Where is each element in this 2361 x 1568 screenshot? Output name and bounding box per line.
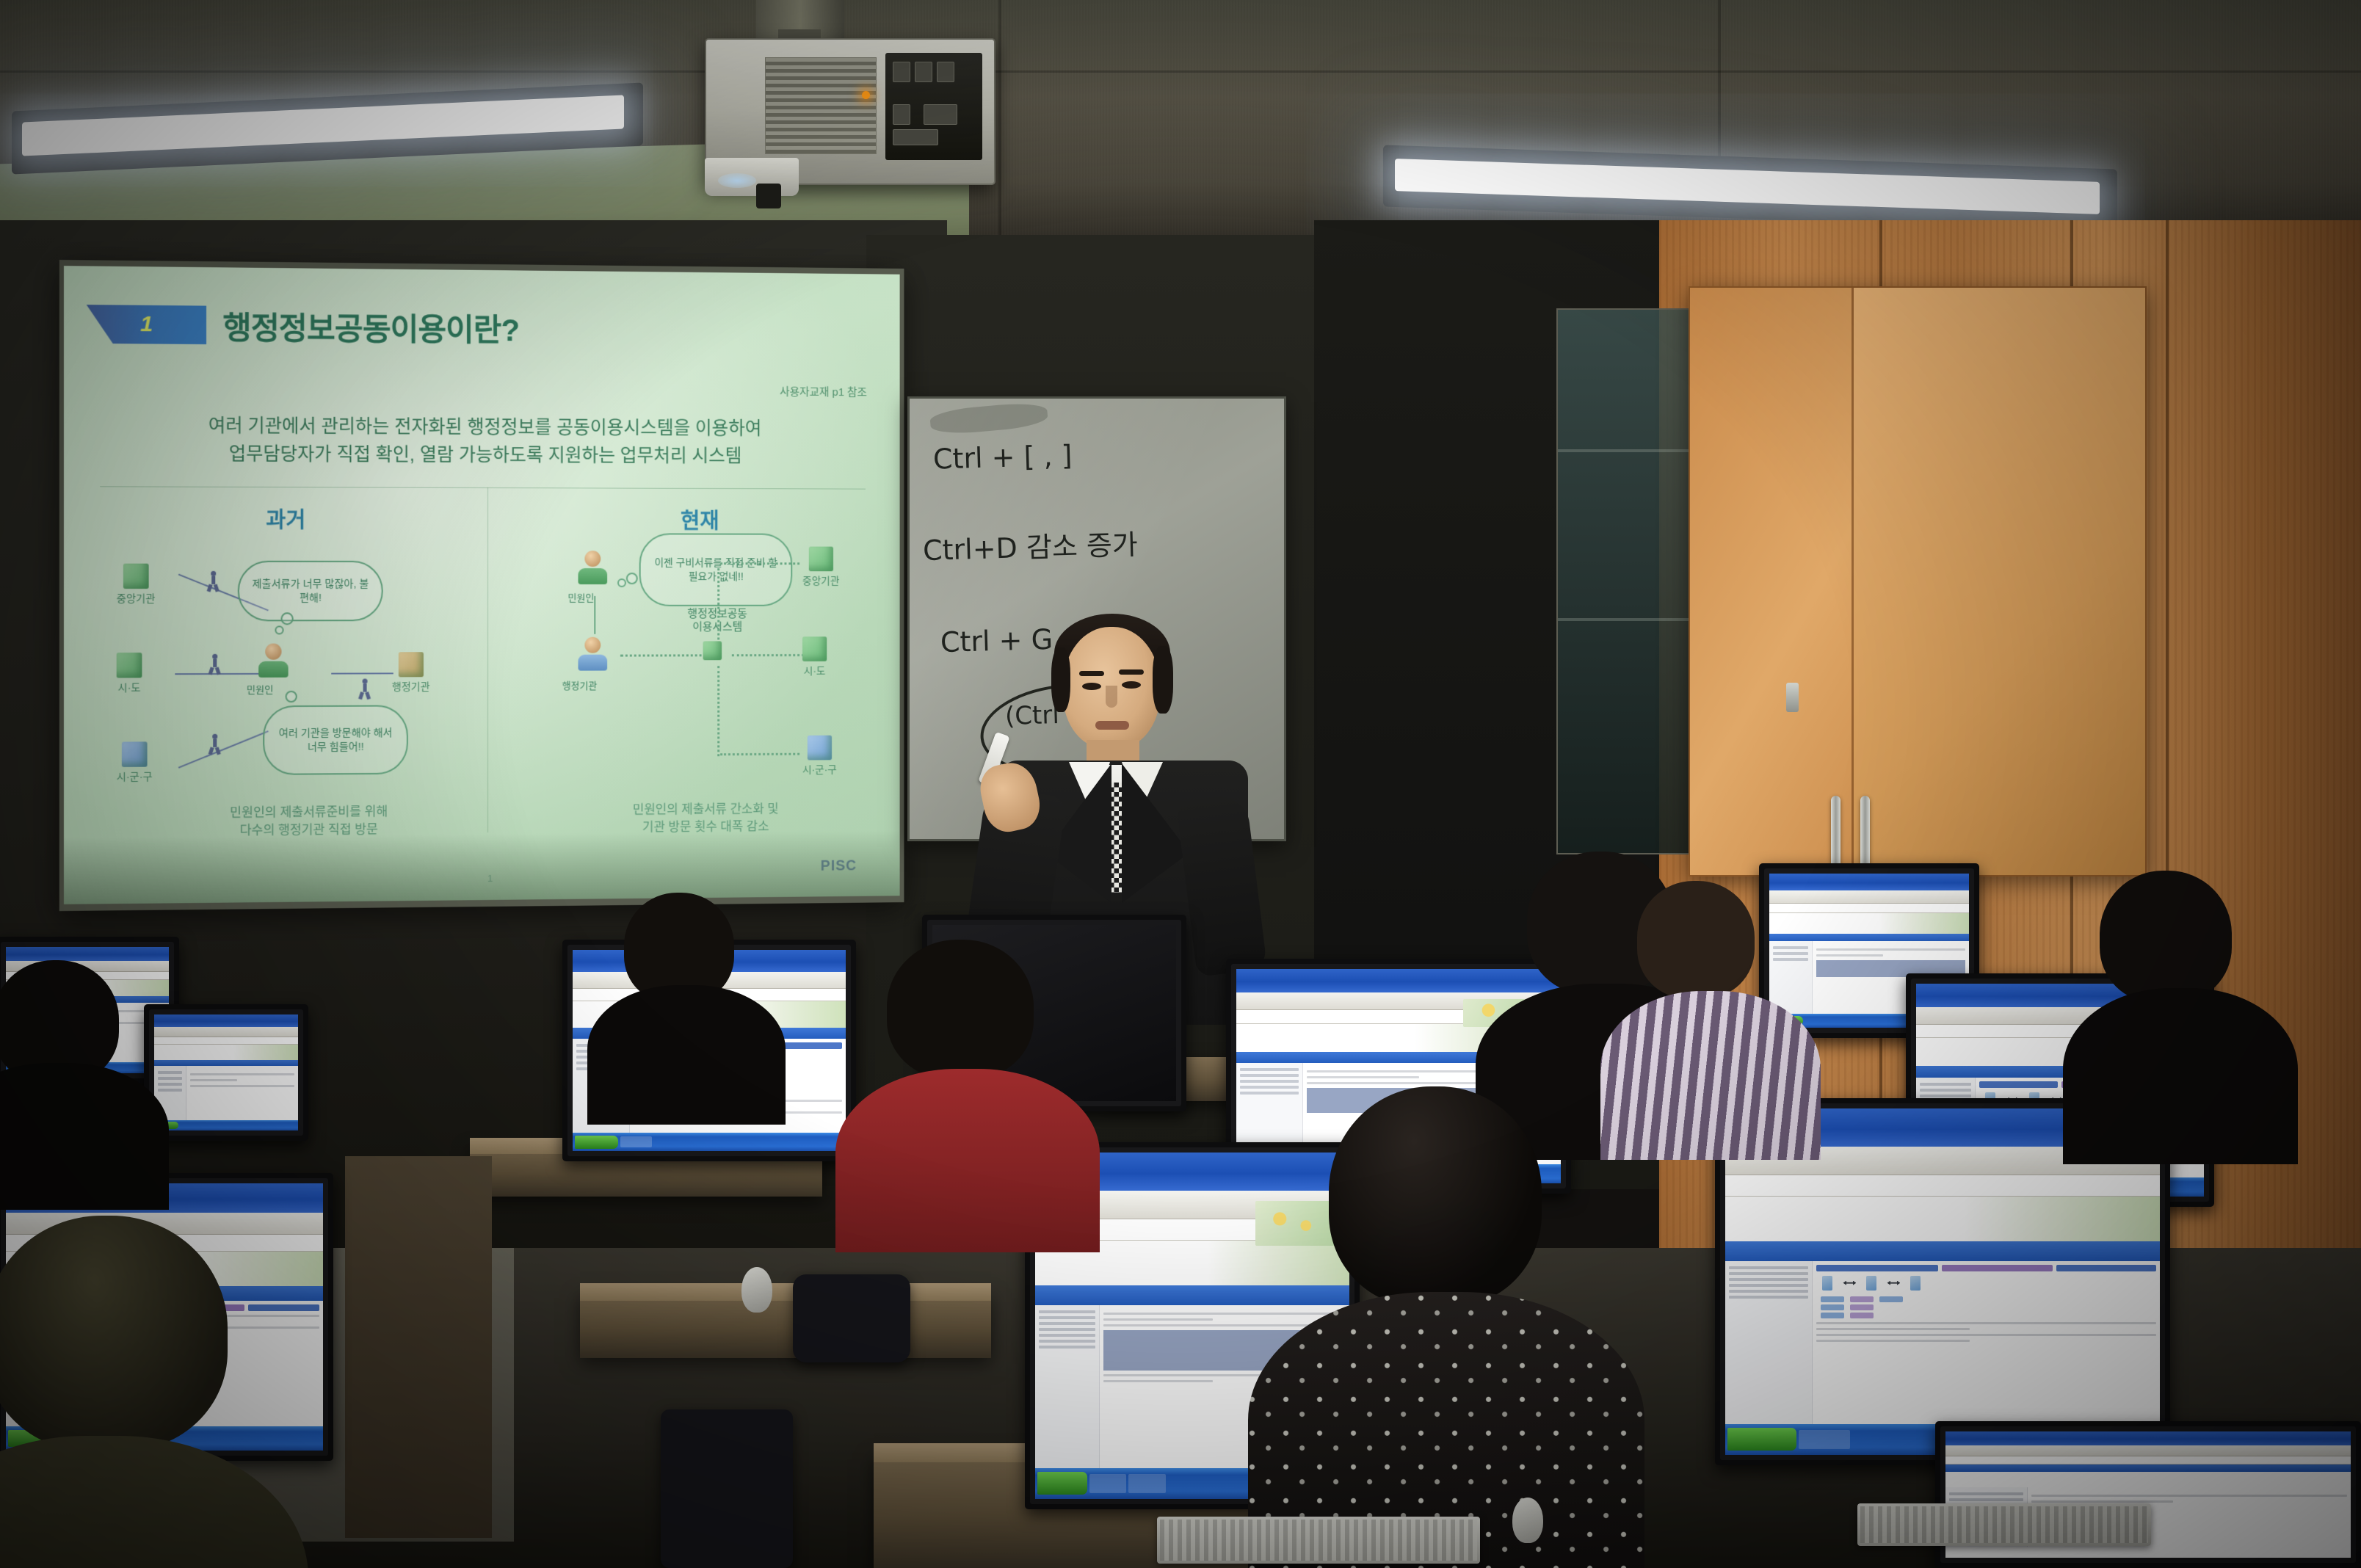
projector-port xyxy=(893,129,938,145)
student-head-olive-cap xyxy=(0,1216,228,1451)
citizen-avatar-past xyxy=(257,644,290,678)
browser-title-bar xyxy=(6,947,169,961)
browser-address-bar[interactable] xyxy=(1769,904,1969,914)
slide-section-number: 1 xyxy=(140,312,153,338)
diagram-arrow-dotted xyxy=(720,562,799,566)
walking-person-icon xyxy=(206,734,222,756)
taskbar-button[interactable] xyxy=(1089,1474,1127,1493)
section-chips xyxy=(1816,1265,2156,1271)
option-box[interactable] xyxy=(1821,1313,1844,1318)
slide-divider-vertical xyxy=(487,487,488,832)
chip xyxy=(2056,1265,2156,1271)
browser-toolbar[interactable] xyxy=(154,1027,298,1037)
arrow-icon xyxy=(1843,1281,1856,1285)
page-sidebar[interactable] xyxy=(1725,1261,1813,1424)
cabinet-lock[interactable] xyxy=(1786,683,1799,712)
slide-shadow xyxy=(64,830,900,904)
whiteboard-line-2: Ctrl+D 감소 증가 xyxy=(922,522,1138,568)
monitor-far-right-corner[interactable] xyxy=(1935,1421,2361,1568)
projector-port xyxy=(924,104,957,125)
presenter-eyebrow xyxy=(1119,669,1144,675)
projector-port xyxy=(937,62,954,82)
projection-screen: 1 행정정보공동이용이란? 사용자교재 p1 참조 여러 기관에서 관리하는 전… xyxy=(59,260,904,911)
page-main xyxy=(186,1066,298,1120)
chip xyxy=(1979,1081,2058,1088)
option-box[interactable] xyxy=(1850,1304,1874,1310)
diagram-arrow-dotted xyxy=(720,753,799,758)
option-box[interactable] xyxy=(1821,1296,1844,1302)
projector-vent xyxy=(765,57,877,154)
document-icon xyxy=(1910,1276,1921,1291)
browser-title-bar xyxy=(1769,874,1969,890)
storage-cabinet[interactable] xyxy=(1689,286,2147,876)
page-nav-bar[interactable] xyxy=(1945,1464,2351,1472)
walking-person-icon xyxy=(206,654,222,676)
diagram-node-central-present: 중앙기관 xyxy=(802,547,839,588)
projector-mount-foot xyxy=(756,184,781,208)
keyboard-keys[interactable] xyxy=(1860,1506,2148,1543)
presenter-eye xyxy=(1122,681,1141,689)
student-shoulders xyxy=(587,985,786,1125)
diagram-node-province-present: 시·도 xyxy=(802,636,827,678)
agency-label-present: 행정기관 xyxy=(562,678,597,692)
diagram-arrow xyxy=(331,672,393,674)
diagram-node-central-past: 중앙기관 xyxy=(117,564,156,606)
page-header-banner xyxy=(154,1045,298,1060)
avatar-head xyxy=(584,637,601,653)
chair-back-left[interactable] xyxy=(793,1274,910,1362)
diagram-node-province-past: 시·도 xyxy=(117,653,142,695)
document-icon xyxy=(1822,1276,1832,1291)
slide-body-line-2: 업무담당자가 직접 확인, 열람 가능하도록 지원하는 업무처리 시스템 xyxy=(64,440,900,471)
citizen-avatar-present xyxy=(576,551,609,584)
browser-title-bar xyxy=(1945,1431,2351,1445)
text-lines xyxy=(190,1073,294,1087)
page-header-banner xyxy=(1725,1197,2160,1241)
diagram-arrow-dotted xyxy=(717,666,721,756)
computer-mouse[interactable] xyxy=(1512,1498,1543,1543)
classroom-scene: 1 행정정보공동이용이란? 사용자교재 p1 참조 여러 기관에서 관리하는 전… xyxy=(0,0,2361,1568)
presenter-hair-side xyxy=(1153,646,1173,714)
chip xyxy=(248,1304,319,1311)
slide-title: 행정정보공동이용이란? xyxy=(222,303,519,351)
page-sidebar[interactable] xyxy=(1035,1305,1100,1468)
browser-toolbar[interactable] xyxy=(1945,1445,2351,1456)
presenter-nose xyxy=(1106,686,1117,708)
option-box[interactable] xyxy=(1879,1296,1903,1302)
page-nav-bar[interactable] xyxy=(1725,1241,2160,1262)
glass-display-case xyxy=(1556,308,1699,854)
citizen-label-past: 민원인 xyxy=(247,682,273,696)
chip xyxy=(1942,1265,2053,1271)
start-button[interactable] xyxy=(1037,1472,1087,1495)
slide-column-past-label: 과거 xyxy=(266,503,305,534)
ceiling-tile-seam xyxy=(998,0,1001,242)
projector-lens-glow xyxy=(718,173,756,188)
desk-side-panel xyxy=(345,1156,492,1538)
taskbar-button[interactable] xyxy=(620,1136,653,1147)
browser-title-bar xyxy=(1236,969,1561,992)
node-label: 시·도 xyxy=(804,665,826,677)
whiteboard-line-1: Ctrl + [ , ] xyxy=(932,439,1073,475)
browser-address-bar[interactable] xyxy=(1945,1456,2351,1464)
node-label: 시·군·구 xyxy=(802,763,837,775)
diagram-node-city-past: 시·군·구 xyxy=(117,741,153,784)
walking-person-icon xyxy=(205,571,221,593)
node-label: 시·도 xyxy=(117,681,140,693)
building-icon xyxy=(117,653,142,678)
glass-shelf xyxy=(1558,449,1697,452)
citizen-label-present: 민원인 xyxy=(568,590,595,604)
slide-column-present-label: 현재 xyxy=(681,504,719,535)
student-head xyxy=(1637,881,1755,998)
building-icon xyxy=(399,652,424,677)
building-icon xyxy=(122,741,148,767)
projector-port xyxy=(893,62,910,82)
windows-taskbar[interactable] xyxy=(154,1120,298,1130)
student-shoulders-red-top xyxy=(835,1069,1100,1252)
building-icon xyxy=(809,547,833,572)
node-label: 중앙기관 xyxy=(117,592,156,604)
text-lines xyxy=(2031,1495,2347,1503)
slide-reference-note: 사용자교재 p1 참조 xyxy=(780,384,867,400)
option-box[interactable] xyxy=(1821,1304,1844,1310)
building-icon xyxy=(123,564,149,589)
monitor-screen[interactable] xyxy=(154,1015,298,1130)
page-nav-bar[interactable] xyxy=(1035,1285,1349,1306)
chip xyxy=(782,1042,842,1049)
node-label: 행정기관 xyxy=(392,680,430,692)
desk-surface xyxy=(580,1283,991,1301)
bubble-tail-dot xyxy=(286,691,297,703)
option-box[interactable] xyxy=(1850,1296,1874,1302)
text-lines xyxy=(1816,1322,2156,1342)
student-head xyxy=(887,940,1034,1079)
presenter-eye xyxy=(1082,683,1101,690)
start-button[interactable] xyxy=(575,1136,618,1149)
world-map-graphic xyxy=(1255,1201,1337,1246)
slide-body-line-1: 여러 기관에서 관리하는 전자화된 행정정보를 공동이용시스템을 이용하여 xyxy=(64,412,900,443)
cabinet-handle[interactable] xyxy=(1860,796,1870,868)
keyboard-keys[interactable] xyxy=(1160,1520,1477,1561)
student-head xyxy=(1329,1086,1542,1307)
presenter-mouth xyxy=(1095,721,1129,730)
diagram-node-city-present: 시·군·구 xyxy=(802,736,837,777)
page-content xyxy=(154,1066,298,1120)
bubble-tail-dot xyxy=(275,625,283,634)
walking-person-icon xyxy=(356,678,372,700)
slide-body-text: 여러 기관에서 관리하는 전자화된 행정정보를 공동이용시스템을 이용하여 업무… xyxy=(64,412,900,471)
monitor-left-row-2[interactable] xyxy=(144,1004,308,1141)
browser-title-bar xyxy=(154,1015,298,1027)
page-sidebar[interactable] xyxy=(1769,941,1813,1014)
node-label: 시·군·구 xyxy=(117,771,153,783)
computer-mouse[interactable] xyxy=(741,1267,772,1313)
monitor-bezel xyxy=(149,1009,303,1136)
page-main xyxy=(1813,1261,2160,1424)
desk-left-front xyxy=(580,1292,991,1358)
diagram-arrow-dotted xyxy=(620,654,707,658)
diagram-node-agency-past: 행정기관 xyxy=(392,652,430,694)
diagram-arrow-dotted xyxy=(717,568,721,639)
cabinet-door-right[interactable] xyxy=(1854,288,2145,875)
student-head xyxy=(2100,871,2232,1003)
browser-address-bar[interactable] xyxy=(1725,1175,2160,1197)
bubble-tail-dot xyxy=(281,612,294,625)
projector-port xyxy=(915,62,932,82)
option-box[interactable] xyxy=(1850,1313,1874,1318)
building-icon xyxy=(808,736,832,761)
building-icon xyxy=(802,636,827,661)
ceiling-tile-seam xyxy=(0,70,2361,73)
avatar-body xyxy=(578,568,607,584)
chip xyxy=(1816,1265,1938,1271)
start-button[interactable] xyxy=(1727,1428,1796,1451)
windows-taskbar[interactable] xyxy=(573,1133,846,1151)
projector-status-led xyxy=(862,91,870,99)
browser-address-bar[interactable] xyxy=(154,1037,298,1045)
bubble-tail-dot xyxy=(626,573,638,584)
agency-avatar-present xyxy=(576,637,609,671)
student-shoulders xyxy=(2063,988,2298,1164)
speech-bubble-past-top: 제출서류가 너무 많잖아, 불편해! xyxy=(238,561,383,622)
speech-bubble-present: 이젠 구비서류를 직접 준비 할 필요가 없네!! xyxy=(639,533,793,606)
shared-system-hub xyxy=(703,641,722,662)
diagram-arrow xyxy=(594,596,595,634)
browser-toolbar[interactable] xyxy=(1769,890,1969,904)
option-boxes xyxy=(1821,1296,2156,1318)
projector-port xyxy=(893,104,910,125)
page-content xyxy=(1725,1261,2160,1424)
document-icon xyxy=(1866,1276,1876,1291)
keyboard-center[interactable] xyxy=(1157,1517,1480,1564)
server-icon xyxy=(703,641,722,660)
bubble-tail-dot xyxy=(617,578,626,587)
diagram-arrow-dotted xyxy=(732,654,804,658)
keyboard-right[interactable] xyxy=(1857,1503,2151,1546)
presentation-slide: 1 행정정보공동이용이란? 사용자교재 p1 참조 여러 기관에서 관리하는 전… xyxy=(64,266,900,904)
ceiling-tile-seam xyxy=(1718,0,1721,176)
taskbar-button[interactable] xyxy=(1799,1430,1850,1449)
avatar-head xyxy=(265,644,281,660)
presenter-hair-side xyxy=(1051,647,1070,712)
glass-shelf xyxy=(1558,618,1697,621)
cabinet-handle[interactable] xyxy=(1831,796,1840,868)
flow-icons xyxy=(1822,1276,2156,1291)
page-header-banner xyxy=(1769,913,1969,933)
avatar-head xyxy=(584,551,601,567)
arrow-icon xyxy=(1887,1281,1900,1285)
taskbar-button[interactable] xyxy=(1128,1474,1166,1493)
browser-window[interactable] xyxy=(154,1015,298,1130)
text-lines xyxy=(1816,948,1965,957)
speech-bubble-past-bottom: 여러 기관을 방문해야 해서 너무 힘들어!! xyxy=(263,705,408,774)
node-label: 중앙기관 xyxy=(802,575,839,587)
chair-left[interactable] xyxy=(661,1409,793,1568)
presenter-eyebrow xyxy=(1079,671,1104,676)
student-shoulders-striped xyxy=(1600,991,1821,1160)
avatar-body xyxy=(258,661,289,678)
avatar-body xyxy=(578,655,607,671)
